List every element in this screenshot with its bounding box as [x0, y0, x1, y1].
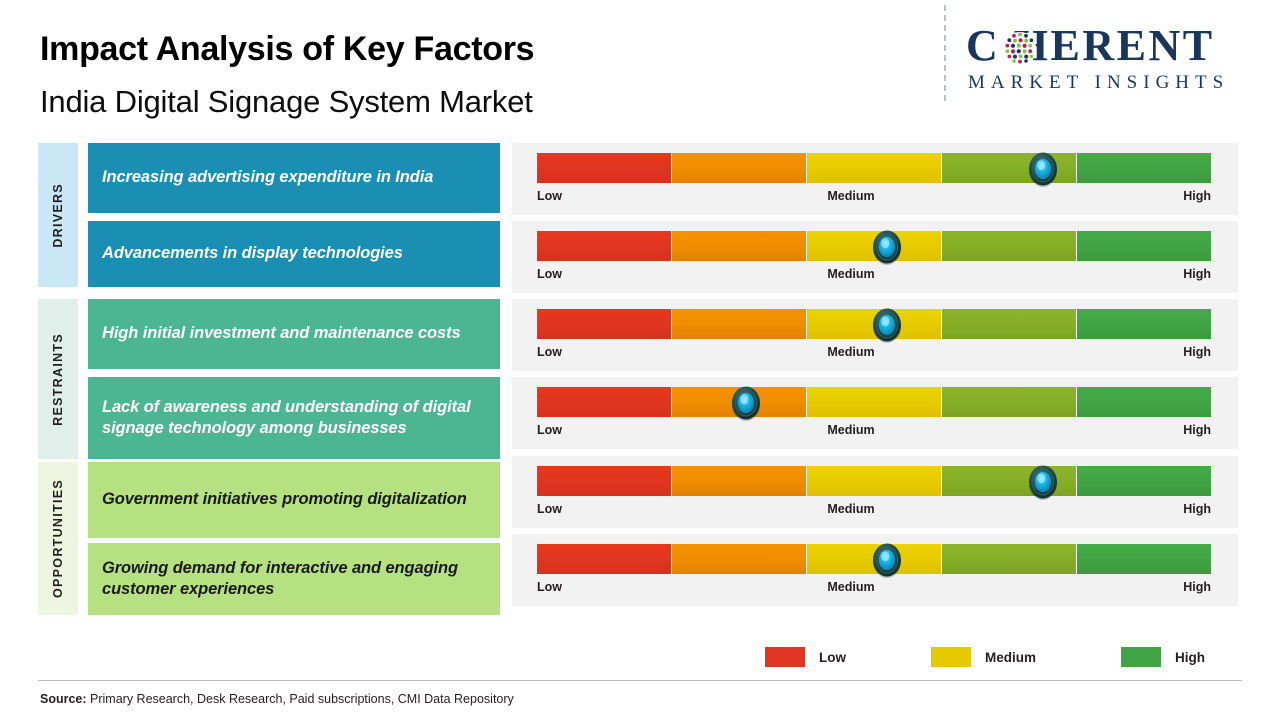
logo-tagline: MARKET INSIGHTS — [968, 72, 1229, 94]
scale-tick-medium: Medium — [827, 580, 874, 594]
scale-tick-low: Low — [537, 267, 562, 281]
factor-label: High initial investment and maintenance … — [102, 323, 461, 344]
scale-segment-2 — [807, 466, 942, 496]
scale-segment-3 — [942, 309, 1077, 339]
legend-swatch — [931, 647, 971, 667]
factor-label: Government initiatives promoting digital… — [102, 489, 467, 510]
scale-tick-high: High — [1183, 423, 1211, 437]
scale-segment-4 — [1077, 544, 1211, 574]
legend-swatch — [765, 647, 805, 667]
category-tab-label: DRIVERS — [51, 183, 65, 248]
factor-box: Government initiatives promoting digital… — [88, 462, 500, 538]
scale-tick-low: Low — [537, 189, 562, 203]
scale-segment-2 — [807, 387, 942, 417]
scale-segment-4 — [1077, 231, 1211, 261]
scale-segment-4 — [1077, 387, 1211, 417]
source-label: Source: — [40, 692, 87, 706]
scale-segment-3 — [942, 153, 1077, 183]
gauge-panel: LowMediumHigh — [512, 534, 1238, 606]
scale-tick-high: High — [1183, 502, 1211, 516]
impact-scale-bar — [537, 153, 1211, 183]
scale-tick-medium: Medium — [827, 502, 874, 516]
logo-divider — [944, 5, 946, 101]
category-tab-restraints: RESTRAINTS — [38, 299, 78, 459]
scale-segment-3 — [942, 466, 1077, 496]
header: Impact Analysis of Key Factors India Dig… — [0, 0, 1280, 132]
scale-segment-1 — [672, 309, 807, 339]
scale-tick-medium: Medium — [827, 189, 874, 203]
scale-tick-medium: Medium — [827, 267, 874, 281]
scale-tick-high: High — [1183, 189, 1211, 203]
scale-segment-1 — [672, 466, 807, 496]
scale-tick-low: Low — [537, 580, 562, 594]
scale-segment-3 — [942, 544, 1077, 574]
factor-label: Growing demand for interactive and engag… — [102, 558, 486, 600]
impact-scale-bar — [537, 309, 1211, 339]
source-note: Source: Primary Research, Desk Research,… — [40, 692, 514, 706]
scale-segment-2 — [807, 153, 942, 183]
scale-segment-0 — [537, 544, 672, 574]
gauge-panel: LowMediumHigh — [512, 143, 1238, 215]
category-tab-label: RESTRAINTS — [51, 333, 65, 426]
impact-scale-bar — [537, 231, 1211, 261]
scale-segment-3 — [942, 231, 1077, 261]
gauge-panel: LowMediumHigh — [512, 456, 1238, 528]
scale-segment-1 — [672, 544, 807, 574]
scale-segment-1 — [672, 387, 807, 417]
category-tab-label: OPPORTUNITIES — [51, 479, 65, 598]
footer-divider — [38, 680, 1242, 681]
page-title: Impact Analysis of Key Factors — [40, 30, 534, 69]
scale-tick-low: Low — [537, 345, 562, 359]
legend-item: Medium — [931, 647, 1036, 667]
legend-label: Medium — [985, 650, 1036, 665]
scale-segment-3 — [942, 387, 1077, 417]
globe-sphere-icon — [1003, 31, 1037, 65]
gauge-panel: LowMediumHigh — [512, 299, 1238, 371]
legend-swatch — [1121, 647, 1161, 667]
impact-scale-bar — [537, 387, 1211, 417]
legend-item: High — [1121, 647, 1205, 667]
impact-scale-bar — [537, 544, 1211, 574]
scale-segment-1 — [672, 231, 807, 261]
scale-tick-high: High — [1183, 267, 1211, 281]
category-tab-drivers: DRIVERS — [38, 143, 78, 287]
scale-segment-4 — [1077, 309, 1211, 339]
legend: LowMediumHigh — [765, 644, 1205, 670]
page-subtitle: India Digital Signage System Market — [40, 84, 533, 120]
scale-tick-high: High — [1183, 580, 1211, 594]
scale-segment-0 — [537, 387, 672, 417]
scale-segment-2 — [807, 544, 942, 574]
scale-segment-4 — [1077, 466, 1211, 496]
scale-segment-4 — [1077, 153, 1211, 183]
scale-segment-0 — [537, 466, 672, 496]
factor-label: Increasing advertising expenditure in In… — [102, 167, 433, 188]
factor-box: Lack of awareness and understanding of d… — [88, 377, 500, 459]
factor-label: Lack of awareness and understanding of d… — [102, 397, 486, 439]
scale-segment-0 — [537, 231, 672, 261]
scale-tick-low: Low — [537, 423, 562, 437]
gauge-panel: LowMediumHigh — [512, 377, 1238, 449]
gauge-panel: LowMediumHigh — [512, 221, 1238, 293]
scale-tick-high: High — [1183, 345, 1211, 359]
impact-scale-bar — [537, 466, 1211, 496]
legend-label: Low — [819, 650, 846, 665]
source-text: Primary Research, Desk Research, Paid su… — [87, 692, 514, 706]
category-tab-opportunities: OPPORTUNITIES — [38, 462, 78, 615]
factor-label: Advancements in display technologies — [102, 243, 403, 264]
legend-item: Low — [765, 647, 846, 667]
scale-segment-0 — [537, 153, 672, 183]
factor-box: Growing demand for interactive and engag… — [88, 543, 500, 615]
scale-segment-1 — [672, 153, 807, 183]
scale-segment-2 — [807, 231, 942, 261]
factor-box: Increasing advertising expenditure in In… — [88, 143, 500, 213]
scale-segment-0 — [537, 309, 672, 339]
scale-tick-medium: Medium — [827, 423, 874, 437]
factor-box: High initial investment and maintenance … — [88, 299, 500, 369]
scale-tick-medium: Medium — [827, 345, 874, 359]
scale-tick-low: Low — [537, 502, 562, 516]
legend-label: High — [1175, 650, 1205, 665]
company-logo: C HERENT — [966, 22, 1262, 100]
factor-box: Advancements in display technologies — [88, 221, 500, 287]
scale-segment-2 — [807, 309, 942, 339]
